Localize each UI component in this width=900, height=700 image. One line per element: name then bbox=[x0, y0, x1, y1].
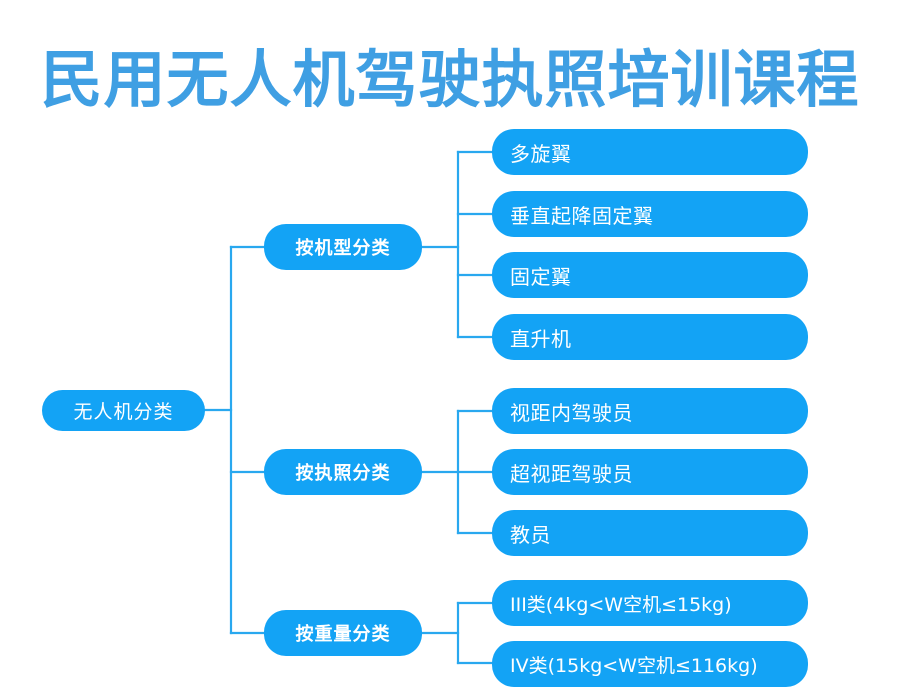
node-leaf-helicopter[interactable]: 直升机 bbox=[492, 314, 808, 360]
node-leaf-multirotor[interactable]: 多旋翼 bbox=[492, 129, 808, 175]
node-root-drone-classification[interactable]: 无人机分类 bbox=[42, 390, 205, 431]
node-branch-by-aircraft-type[interactable]: 按机型分类 bbox=[264, 224, 422, 270]
node-leaf-vlos-pilot[interactable]: 视距内驾驶员 bbox=[492, 388, 808, 434]
node-branch-by-license-type[interactable]: 按执照分类 bbox=[264, 449, 422, 495]
mindmap-canvas: 民用无人机驾驶执照培训课程 bbox=[0, 0, 900, 700]
node-leaf-instructor[interactable]: 教员 bbox=[492, 510, 808, 556]
node-leaf-vtol-fixed-wing[interactable]: 垂直起降固定翼 bbox=[492, 191, 808, 237]
node-leaf-fixed-wing[interactable]: 固定翼 bbox=[492, 252, 808, 298]
node-leaf-bvlos-pilot[interactable]: 超视距驾驶员 bbox=[492, 449, 808, 495]
node-branch-by-weight[interactable]: 按重量分类 bbox=[264, 610, 422, 656]
node-leaf-class-iv-weight[interactable]: IV类(15kg<W空机≤116kg) bbox=[492, 641, 808, 687]
node-leaf-class-iii-weight[interactable]: III类(4kg<W空机≤15kg) bbox=[492, 580, 808, 626]
